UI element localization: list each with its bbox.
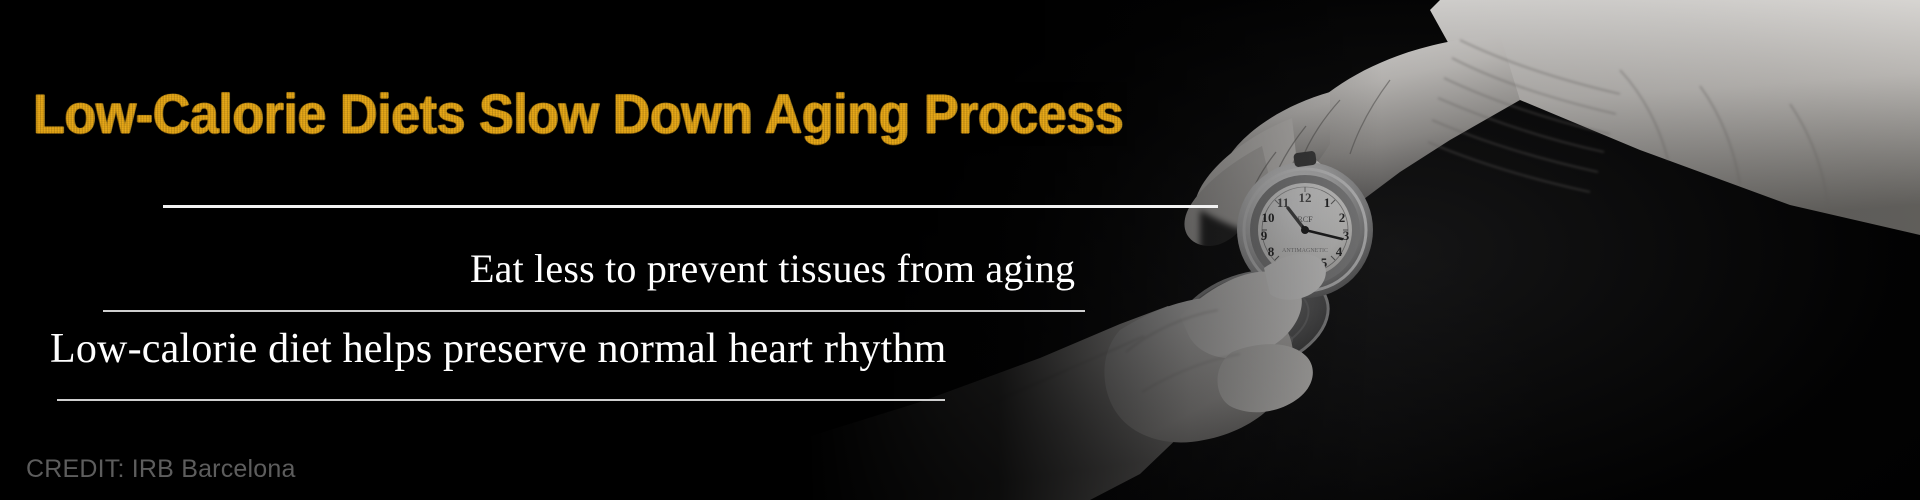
hero-text-layer: Low-Calorie Diets Slow Down Aging Proces… [0,0,1920,500]
article-hero-banner: 12 11 10 9 8 7 6 5 4 3 2 1 RCF ANTIMAGNE… [0,0,1920,500]
subheading-primary: Eat less to prevent tissues from aging [470,245,1075,292]
page-title: Low-Calorie Diets Slow Down Aging Proces… [33,86,1123,142]
divider-under-subheading-two [57,399,945,401]
subheading-secondary: Low-calorie diet helps preserve normal h… [50,325,947,373]
divider-under-subheading-one [103,310,1085,312]
image-credit: CREDIT: IRB Barcelona [26,455,296,484]
divider-under-title [163,205,1218,208]
